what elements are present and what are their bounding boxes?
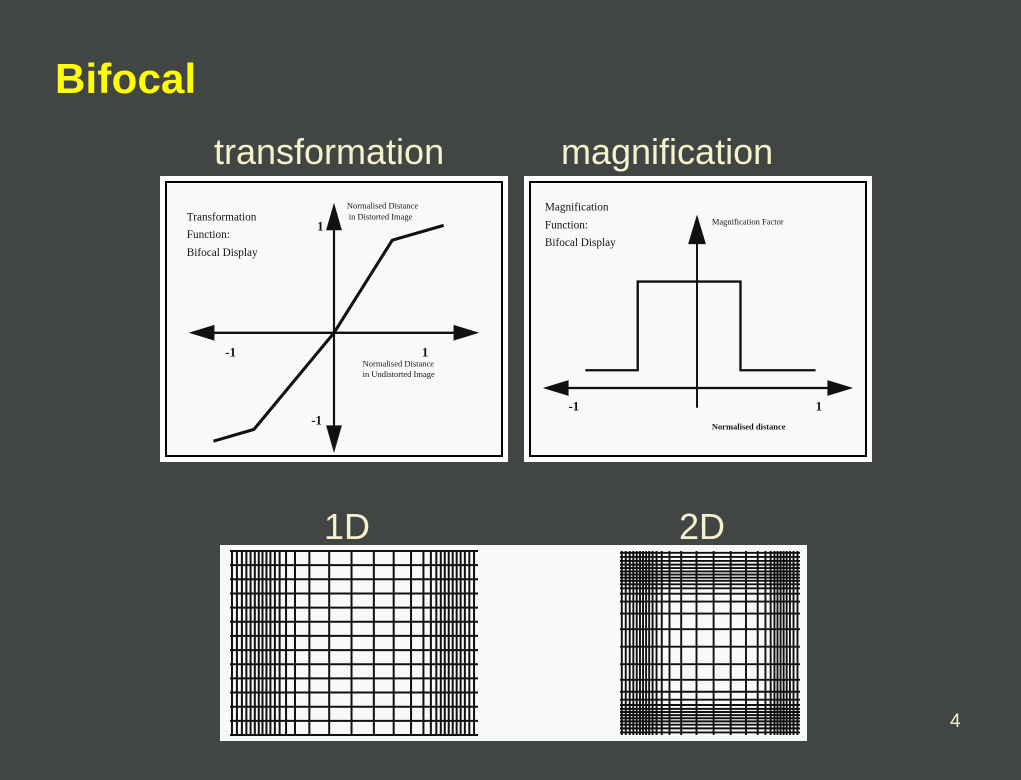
magnification-tick-x-negative: -1 [569, 400, 580, 414]
figure-transformation-function: Transformation Function: Bifocal Display… [160, 176, 508, 462]
grid-2d [614, 545, 806, 741]
slide: Bifocal transformation magnification Tra… [0, 0, 1021, 780]
figure-magnification-function: Magnification Function: Bifocal Display … [524, 176, 872, 462]
magnification-caption-line3: Bifocal Display [545, 237, 616, 249]
heading-2d: 2D [679, 509, 725, 545]
magnification-chart: Magnification Function: Bifocal Display … [531, 183, 865, 455]
transformation-y-axis-label-line1: Normalised Distance [347, 201, 419, 211]
transformation-caption-line2: Function: [187, 229, 230, 241]
grid-1d [224, 545, 484, 741]
magnification-y-axis-top-arrow [688, 215, 706, 245]
magnification-step-curve [585, 282, 815, 371]
transformation-tick-x-negative: -1 [225, 345, 236, 359]
heading-1d: 1D [324, 509, 370, 545]
magnification-y-axis-label: Magnification Factor [712, 216, 784, 226]
transformation-x-axis-label-line1: Normalised Distance [363, 358, 435, 368]
transformation-x-axis-right-arrow [454, 325, 480, 341]
magnification-x-axis-label: Normalised distance [712, 421, 786, 431]
slide-title: Bifocal [55, 57, 196, 101]
transformation-y-axis-bottom-arrow [326, 425, 342, 453]
heading-transformation: transformation [214, 134, 444, 170]
magnification-x-axis-right-arrow [827, 380, 853, 396]
page-number: 4 [950, 712, 961, 731]
magnification-caption-line1: Magnification [545, 202, 609, 214]
grid-2d-canvas [614, 545, 806, 741]
magnification-caption-line2: Function: [545, 219, 588, 231]
transformation-y-axis-top-arrow [326, 203, 342, 231]
transformation-caption-line1: Transformation [187, 211, 257, 223]
transformation-x-axis-label-line2: in Undistorted Image [363, 369, 435, 379]
transformation-tick-y-negative: -1 [311, 413, 322, 427]
transformation-caption-line3: Bifocal Display [187, 247, 258, 259]
figure-transformation-inner: Transformation Function: Bifocal Display… [165, 181, 503, 457]
figure-magnification-inner: Magnification Function: Bifocal Display … [529, 181, 867, 457]
magnification-x-axis-left-arrow [543, 380, 569, 396]
grid-1d-canvas [224, 545, 484, 741]
transformation-tick-y-positive: 1 [317, 219, 323, 233]
transformation-y-axis-label-line2: in Distorted Image [349, 211, 413, 221]
magnification-tick-x-positive: 1 [816, 400, 822, 414]
transformation-chart: Transformation Function: Bifocal Display… [167, 183, 501, 455]
transformation-x-axis-left-arrow [189, 325, 215, 341]
heading-magnification: magnification [561, 134, 773, 170]
figure-distorted-grids [220, 545, 807, 741]
